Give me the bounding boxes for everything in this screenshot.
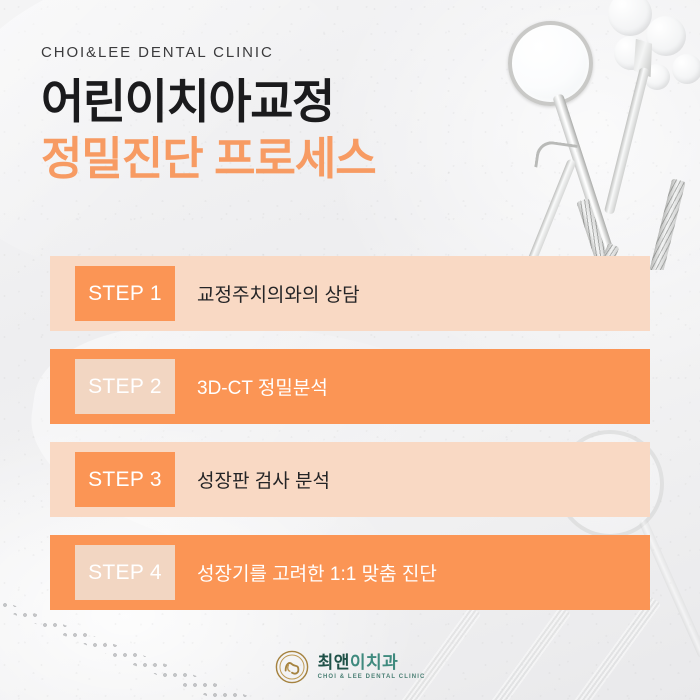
clinic-name-eyebrow: CHOI&LEE DENTAL CLINIC: [41, 44, 376, 61]
step-label-2: 3D-CT 정밀분석: [197, 373, 328, 400]
background-tool-grip: [568, 596, 662, 700]
step-label-1: 교정주치의와의 상담: [197, 280, 360, 307]
bead: [672, 54, 700, 84]
dental-tools-photo: [400, 0, 700, 270]
footer-logo-korean-part-2: 이치과: [350, 653, 398, 672]
list-item: STEP 4 성장기를 고려한 1:1 맞춤 진단: [50, 535, 650, 610]
footer-logo-korean-part-1: 최앤: [318, 653, 350, 672]
footer-logo-english: CHOI & LEE DENTAL CLINIC: [318, 674, 426, 680]
step-badge-2: STEP 2: [75, 359, 175, 414]
step-badge-4: STEP 4: [75, 545, 175, 600]
bead: [608, 0, 652, 36]
list-item: STEP 3 성장판 검사 분석: [50, 442, 650, 517]
list-item: STEP 1 교정주치의와의 상담: [50, 256, 650, 331]
step-badge-3: STEP 3: [75, 452, 175, 507]
footer-logo-text: 최앤이치과 CHOI & LEE DENTAL CLINIC: [318, 654, 426, 680]
mouth-mirror-icon: [508, 21, 593, 106]
process-steps-list: STEP 1 교정주치의와의 상담 STEP 2 3D-CT 정밀분석 STEP…: [50, 256, 650, 610]
page-title-line-1: 어린이치아교정: [41, 77, 376, 127]
step-label-3: 성장판 검사 분석: [197, 466, 330, 493]
list-item: STEP 2 3D-CT 정밀분석: [50, 349, 650, 424]
poster-header: CHOI&LEE DENTAL CLINIC 어린이치아교정 정밀진단 프로세스: [41, 44, 376, 183]
step-badge-1: STEP 1: [75, 266, 175, 321]
step-label-4: 성장기를 고려한 1:1 맞춤 진단: [197, 559, 437, 586]
poster-canvas: CHOI&LEE DENTAL CLINIC 어린이치아교정 정밀진단 프로세스…: [0, 0, 700, 700]
page-title-line-2: 정밀진단 프로세스: [41, 135, 376, 183]
dental-scaler-grip: [649, 178, 686, 270]
footer-logo: 최앤이치과 CHOI & LEE DENTAL CLINIC: [0, 650, 700, 684]
clinic-emblem-icon: [275, 650, 309, 684]
dental-explorer-shaft: [520, 158, 577, 270]
footer-logo-korean: 최앤이치과: [318, 654, 399, 672]
bead: [646, 16, 686, 56]
